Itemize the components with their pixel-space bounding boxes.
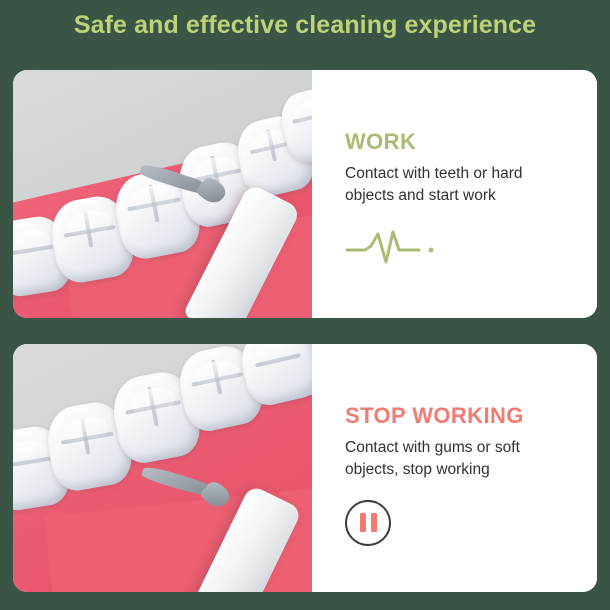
status-icon-pause — [345, 500, 597, 546]
card-heading: WORK — [345, 130, 597, 154]
status-icon-waveform — [345, 226, 597, 271]
illustration-scaler-on-teeth — [13, 70, 312, 318]
pause-bar-left — [360, 513, 366, 532]
product-feature-graphic: Safe and effective cleaning experience — [0, 0, 610, 610]
card-heading: STOP WORKING — [345, 404, 597, 428]
text-panel-work: WORK Contact with teeth or hard objects … — [312, 70, 597, 318]
waveform-icon — [345, 226, 473, 266]
card-description: Contact with teeth or hard objects and s… — [345, 163, 570, 206]
feature-card-work: WORK Contact with teeth or hard objects … — [13, 70, 597, 318]
illustration-scaler-on-gums — [13, 344, 312, 592]
pause-bar-right — [371, 513, 377, 532]
text-panel-stop: STOP WORKING Contact with gums or soft o… — [312, 344, 597, 592]
card-description: Contact with gums or soft objects, stop … — [345, 437, 570, 480]
feature-card-stop: STOP WORKING Contact with gums or soft o… — [13, 344, 597, 592]
page-title: Safe and effective cleaning experience — [0, 11, 610, 40]
pause-icon — [345, 500, 391, 546]
